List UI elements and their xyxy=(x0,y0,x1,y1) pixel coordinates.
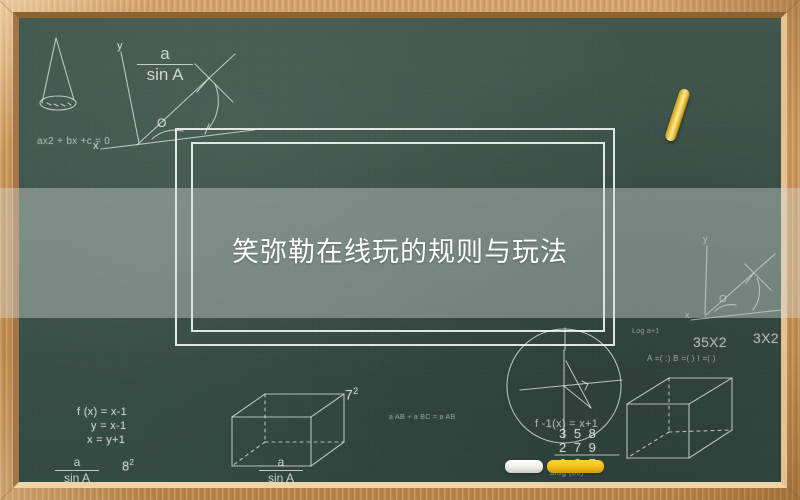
chalk-stick-yellow-tray[interactable] xyxy=(547,460,604,473)
chalk-stick-yellow-top-right[interactable] xyxy=(664,88,691,143)
fraction-bar xyxy=(259,470,303,471)
note-vector-addition: a AB + a BC = a AB xyxy=(389,414,456,421)
equation-fx-line-1: f (x) = x-1 xyxy=(77,406,127,418)
fraction-bar xyxy=(137,64,193,65)
expression-3x2: 3X2 xyxy=(753,330,779,346)
label-angle-theta-right: O xyxy=(719,294,727,305)
fraction-numerator: a xyxy=(259,456,303,469)
fraction-a-over-sin-a-bottomleft: a sin A xyxy=(55,456,99,482)
page-title: 笑弥勒在线玩的规则与玩法 xyxy=(0,230,800,269)
seven-base: 7 xyxy=(345,387,353,403)
cube-sketch-right xyxy=(627,378,732,458)
fraction-numerator: a xyxy=(137,45,193,63)
chalkboard-frame: a sin A y x O ax2 + bx +c = 0 y x O f (x… xyxy=(0,0,800,500)
fraction-numerator: a xyxy=(55,456,99,469)
fraction-a-over-sin-a-topleft: a sin A xyxy=(137,45,193,84)
expression-seven-squared: 72 xyxy=(345,386,358,403)
eight-exponent: 2 xyxy=(130,458,135,467)
seven-exponent: 2 xyxy=(353,386,358,396)
chalk-stick-white-tray[interactable] xyxy=(505,460,543,473)
label-axis-y-topleft: y xyxy=(117,40,123,52)
expression-eight-squared: 82 xyxy=(122,458,134,473)
eight-base: 8 xyxy=(122,458,130,473)
expression-log-small: Log a+1 xyxy=(632,328,660,335)
label-angle-theta-topleft: O xyxy=(157,116,167,130)
fraction-denominator: sin A xyxy=(137,66,193,84)
matrix-definitions: A =( :) B =( ) I =( ) xyxy=(647,354,716,363)
equation-fx-line-2: y = x-1 xyxy=(91,420,126,432)
fraction-denominator: sin A xyxy=(55,472,99,482)
label-axis-x-right: x xyxy=(685,310,690,320)
fraction-denominator: sin A xyxy=(259,472,303,482)
fraction-a-over-sin-a-bottomcenter: a sin A xyxy=(259,456,303,482)
equation-fx-line-3: x = y+1 xyxy=(87,434,125,446)
cone-sketch xyxy=(40,38,76,110)
sum-row-top: 3 5 8 xyxy=(559,426,598,441)
fraction-bar xyxy=(55,470,99,471)
equation-quadratic: ax2 + bx +c = 0 xyxy=(37,136,110,147)
label-axis-x-topleft: x xyxy=(93,140,99,152)
cube-sketch-center xyxy=(232,394,344,466)
equation-inverse-function: f -1(x) = x+1 xyxy=(535,418,598,430)
expression-35x2: 35X2 xyxy=(693,334,727,350)
sum-row-middle: 2 7 9 xyxy=(559,440,598,455)
